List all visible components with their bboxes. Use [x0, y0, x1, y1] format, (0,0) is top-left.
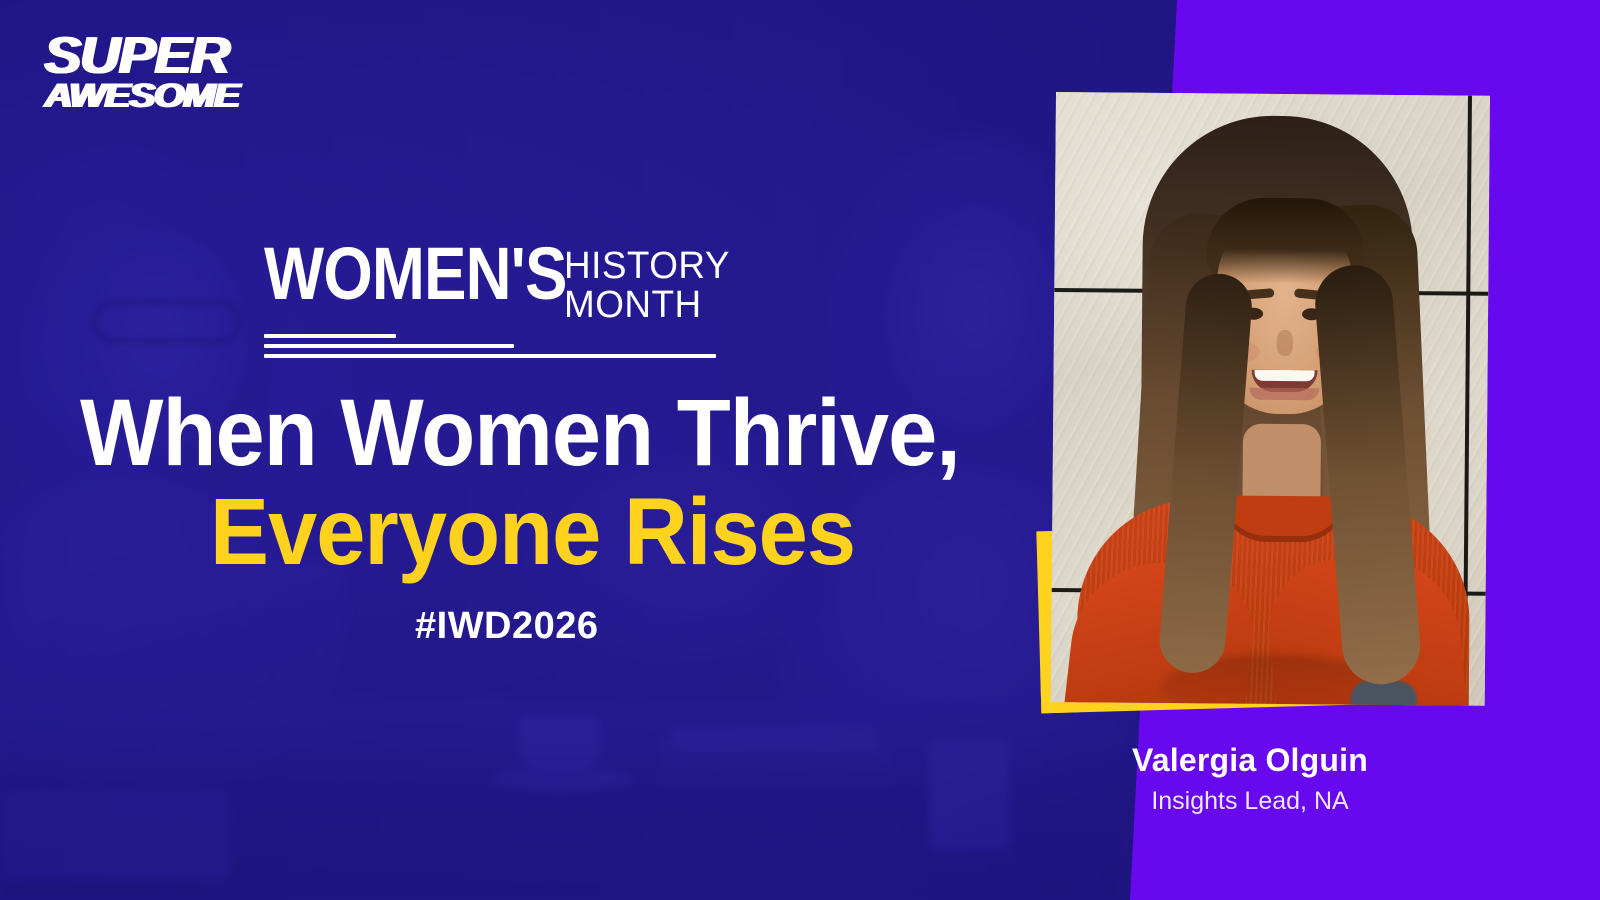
portrait-hand	[1351, 681, 1417, 706]
headline-line-2: Everyone Rises	[210, 485, 969, 580]
superawesome-logo[interactable]: SUPER AWESOME	[44, 34, 294, 112]
speaker-caption: Valergia Olguin Insights Lead, NA	[1080, 742, 1420, 816]
speaker-role: Insights Lead, NA	[1080, 787, 1420, 816]
headline: When Women Thrive, Everyone Rises	[80, 386, 1026, 580]
headline-line-1: When Women Thrive,	[80, 386, 960, 481]
speaker-name: Valergia Olguin	[1080, 742, 1420, 779]
portrait-lower-lip	[1249, 388, 1319, 401]
eyebrow-rules	[264, 334, 735, 358]
eyebrow-womens: WOMEN'S	[264, 243, 567, 305]
hashtag: #IWD2026	[415, 605, 599, 648]
rule-medium	[264, 344, 514, 348]
portrait-teeth	[1254, 370, 1314, 382]
logo-line-super: SUPER	[44, 34, 309, 80]
campaign-graphic: SUPER AWESOME WOMEN'S HISTORY MONTH When…	[0, 0, 1600, 900]
portrait-nose	[1277, 330, 1293, 356]
speaker-portrait-photo	[1051, 92, 1490, 706]
eyebrow-history-month: HISTORY MONTH	[564, 247, 735, 325]
rule-long	[264, 354, 716, 358]
womens-history-month-lockup: WOMEN'S HISTORY MONTH	[264, 243, 735, 364]
eyebrow-history: HISTORY	[564, 247, 730, 286]
logo-line-awesome: AWESOME	[44, 82, 329, 112]
rule-short	[264, 334, 396, 338]
eyebrow-month: MONTH	[564, 286, 730, 325]
